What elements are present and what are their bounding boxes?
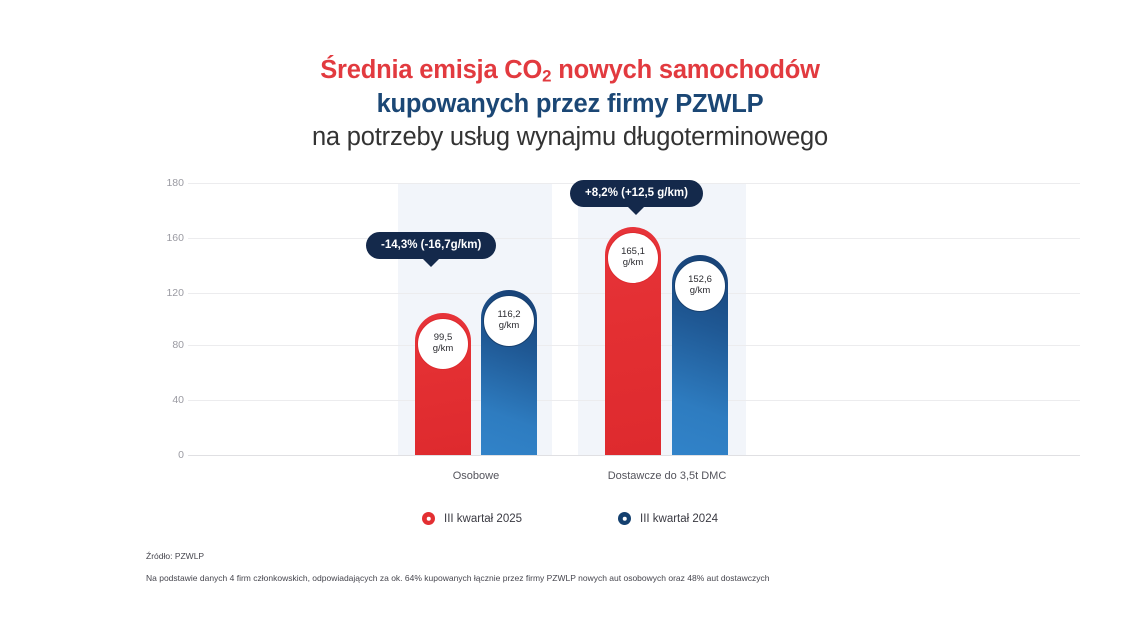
value-bubble-osobowe-2024: 116,2 g/km (483, 295, 535, 347)
legend-item-2025[interactable]: III kwartał 2025 (422, 512, 522, 525)
ytick-label-180: 180 (148, 177, 184, 189)
gridline-0 (188, 455, 1080, 456)
footer-source: Źródło: PZWLP (146, 551, 1046, 561)
chart-legend: III kwartał 2025 III kwartał 2024 (0, 512, 1140, 525)
legend-marker-blue-icon (618, 512, 631, 525)
legend-marker-red-icon (422, 512, 435, 525)
callout-osobowe-change: -14,3% (-16,7g/km) (366, 232, 496, 259)
value-bubble-dostawcze-2024: 152,6 g/km (674, 260, 726, 312)
chart-footer: Źródło: PZWLP Na podstawie danych 4 firm… (146, 551, 1046, 584)
callout-dostawcze-change: +8,2% (+12,5 g/km) (570, 180, 703, 207)
value-bubble-dostawcze-2025: 165,1 g/km (607, 232, 659, 284)
ytick-label-0: 0 (148, 449, 184, 461)
chart-page: Średnia emisja CO2 nowych samochodów kup… (0, 0, 1140, 642)
value-bubble-osobowe-2025: 99,5 g/km (417, 318, 469, 370)
category-label-osobowe: Osobowe (416, 470, 536, 482)
ytick-label-120: 120 (148, 287, 184, 299)
ytick-label-80: 80 (148, 339, 184, 351)
legend-label-2024: III kwartał 2024 (640, 513, 718, 525)
value-unit: g/km (433, 344, 454, 355)
value-unit: g/km (690, 286, 711, 297)
legend-label-2025: III kwartał 2025 (444, 513, 522, 525)
value-unit: g/km (499, 321, 520, 332)
legend-item-2024[interactable]: III kwartał 2024 (618, 512, 718, 525)
category-label-dostawcze: Dostawcze do 3,5t DMC (602, 470, 732, 482)
bar-chart-plot: 180 160 120 80 40 0 99,5 g/km 116,2 g/km… (0, 0, 1140, 642)
footer-note: Na podstawie danych 4 firm członkowskich… (146, 573, 1046, 584)
ytick-label-40: 40 (148, 394, 184, 406)
value-unit: g/km (623, 258, 644, 269)
ytick-label-160: 160 (148, 232, 184, 244)
